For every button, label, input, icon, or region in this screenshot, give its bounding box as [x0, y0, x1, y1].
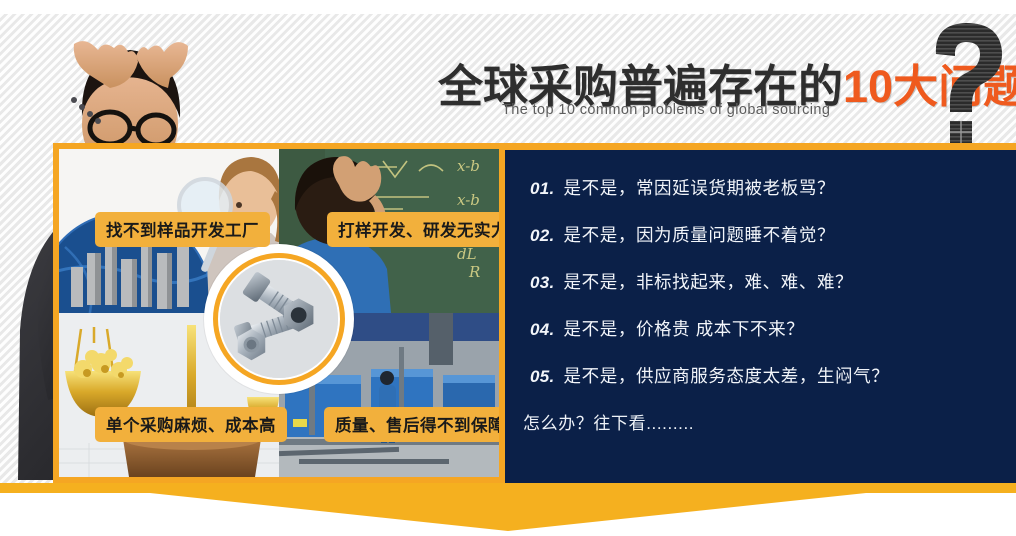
page-header: 全球采购普遍存在的10大问题 The top 10 common problem…	[430, 42, 1016, 142]
problem-list-item: 04.是不是，价格贵 成本下不来？	[530, 316, 804, 341]
panel-top-accent-bar	[505, 143, 1016, 150]
problem-item-number: 04.	[530, 320, 555, 339]
svg-text:x-b: x-b	[457, 191, 480, 209]
svg-text:x-b: x-b	[457, 157, 480, 175]
svg-text:R: R	[468, 263, 480, 281]
collage-caption-single-purchase-cost: 单个采购麻烦、成本高	[95, 407, 287, 442]
svg-text:dL: dL	[457, 245, 477, 263]
collage-caption-rnd-capability: 打样开发、研发无实力	[327, 212, 499, 247]
problem-list-item: 02.是不是，因为质量问题睡不着觉？	[530, 222, 835, 247]
problem-item-number: 02.	[530, 226, 555, 245]
problem-item-number: 03.	[530, 273, 555, 292]
problem-item-number: 05.	[530, 367, 555, 386]
problem-item-text: 是不是，因为质量问题睡不着觉？	[564, 225, 836, 245]
panel-bottom-accent-bar	[0, 483, 1016, 493]
problem-list-footer: 怎么办？往下看.........	[523, 409, 694, 434]
problem-list-panel: 01.是不是，常因延误货期被老板骂？ 02.是不是，因为质量问题睡不着觉？ 03…	[505, 143, 1016, 483]
problem-list-item: 01.是不是，常因延误货期被老板骂？	[530, 175, 835, 200]
bolts-and-nuts-icon	[204, 244, 354, 394]
problem-item-text: 是不是，供应商服务态度太差，生闷气？	[564, 366, 890, 386]
problem-item-number: 01.	[530, 179, 555, 198]
question-mark-icon	[922, 20, 1014, 145]
page-subtitle: The top 10 common problems of global sou…	[502, 102, 830, 118]
problem-list-item: 03.是不是，非标找起来，难、难、难？	[530, 269, 853, 294]
problem-item-text: 是不是，非标找起来，难、难、难？	[564, 272, 854, 292]
problem-item-text: 是不是，价格贵 成本下不来？	[564, 319, 805, 339]
collage-caption-sample-factory: 找不到样品开发工厂	[95, 212, 270, 247]
problem-collage: x-bx-b RdLR	[53, 143, 505, 483]
collage-caption-quality-service: 质量、售后得不到保障	[324, 407, 499, 442]
problem-list-item: 05.是不是，供应商服务态度太差，生闷气？	[530, 363, 889, 388]
down-chevron-icon	[0, 493, 1016, 531]
problem-item-text: 是不是，常因延误货期被老板骂？	[564, 178, 836, 198]
